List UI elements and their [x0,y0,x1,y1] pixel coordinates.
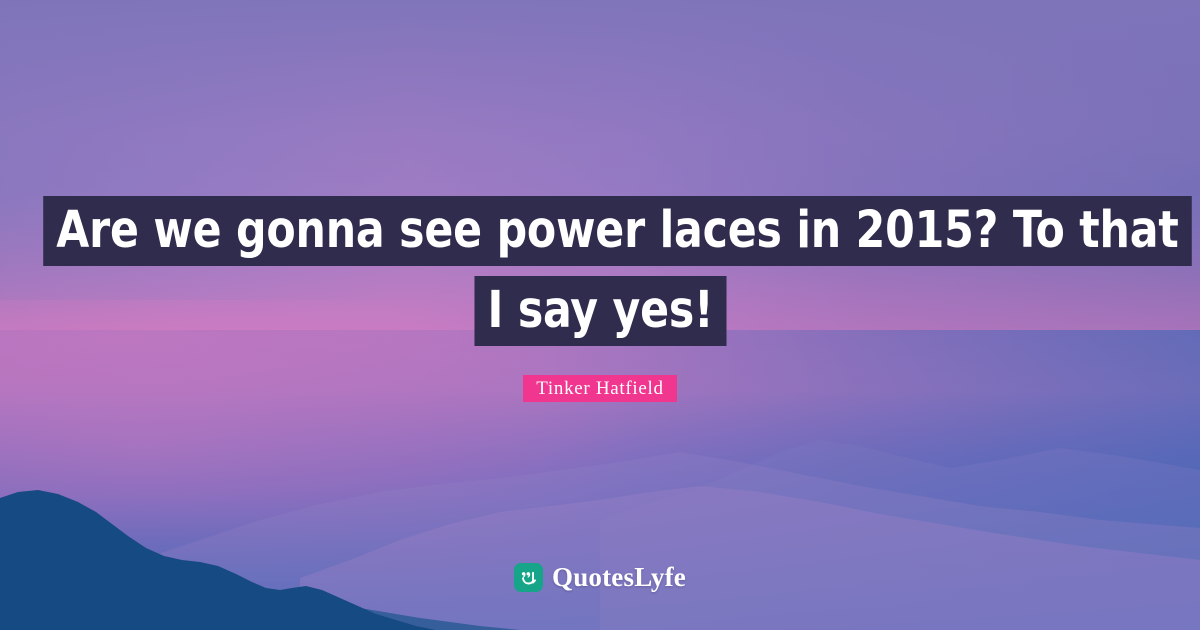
quote-line-row: Are we gonna see power laces in 2015? To… [0,196,1200,266]
quoteslyfe-wordmark: QuotesLyfe [552,563,686,592]
author-block: Tinker Hatfield [0,375,1200,402]
quote-line-row: I say yes! [0,276,1200,346]
author-badge: Tinker Hatfield [523,375,676,402]
quoteslyfe-mark-icon [514,563,543,592]
quote-text-block: Are we gonna see power laces in 2015? To… [0,196,1200,346]
brand-logo[interactable]: QuotesLyfe [0,563,1200,592]
quote-line-1: Are we gonna see power laces in 2015? To… [43,196,1191,266]
quote-card: Are we gonna see power laces in 2015? To… [0,0,1200,630]
quote-line-2: I say yes! [474,276,726,346]
